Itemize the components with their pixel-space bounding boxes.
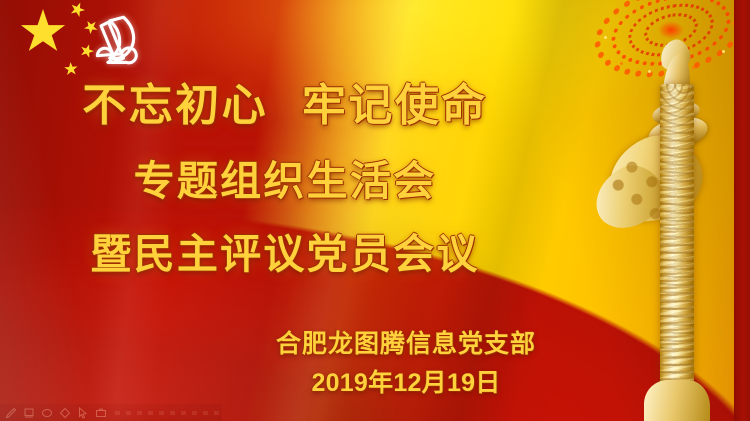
highlighter-icon[interactable] bbox=[21, 406, 36, 419]
presenter-annotation-toolbar[interactable] bbox=[0, 404, 222, 421]
title-line-1-part-a: 不忘初心 bbox=[82, 80, 268, 131]
title-line-1-part-b: 牢记使命 bbox=[302, 80, 488, 131]
right-edge-rim bbox=[734, 0, 750, 421]
date-month: 12 bbox=[393, 369, 421, 397]
cpc-hammer-sickle-emblem bbox=[85, 11, 147, 73]
event-date: 2019年12月19日 bbox=[226, 363, 586, 399]
date-year-unit: 年 bbox=[368, 368, 393, 397]
title-line-2: 专题组织生活会 bbox=[0, 161, 570, 202]
presentation-slide: 不忘初心牢记使命 专题组织生活会 暨民主评议党员会议 合肥龙图腾信息党支部 20… bbox=[0, 0, 750, 421]
pen-icon[interactable] bbox=[3, 406, 18, 419]
pointer-icon[interactable] bbox=[75, 406, 90, 419]
organization-name: 合肥龙图腾信息党支部 bbox=[226, 330, 586, 358]
toolbar-trail bbox=[115, 411, 219, 415]
title-line-1: 不忘初心牢记使命 bbox=[0, 84, 570, 128]
date-year: 2019 bbox=[311, 369, 368, 397]
date-day: 19 bbox=[447, 369, 475, 397]
slide-footer: 合肥龙图腾信息党支部 2019年12月19日 bbox=[226, 330, 586, 399]
title-line-3: 暨民主评议党员会议 bbox=[0, 234, 570, 275]
date-day-unit: 日 bbox=[475, 368, 500, 397]
screenshot-icon[interactable] bbox=[93, 406, 108, 419]
slide-title-block: 不忘初心牢记使命 专题组织生活会 暨民主评议党员会议 bbox=[0, 84, 570, 275]
eraser-icon[interactable] bbox=[39, 406, 54, 419]
shape-icon[interactable] bbox=[57, 406, 72, 419]
date-month-unit: 月 bbox=[422, 368, 447, 397]
